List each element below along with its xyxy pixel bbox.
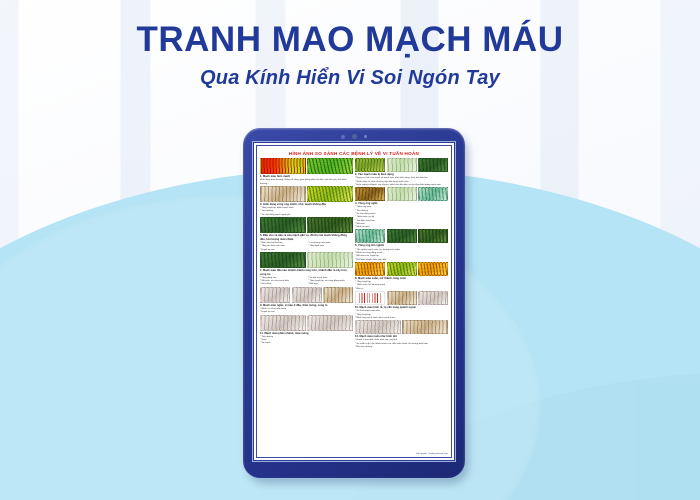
capillary-microscope-image <box>355 229 385 243</box>
poster-section-body: * Thiếu oxy máu* Tiểu đường* Xơ vữa động… <box>355 206 448 229</box>
capillary-microscope-image <box>418 262 448 276</box>
poster-credit: Bản quyền: Tranhmaomach.com <box>260 452 448 455</box>
camera-lens-icon <box>352 134 357 139</box>
poster-section: 7. Mạch máu đầu vào nhánh mảnh cong tròn… <box>260 252 353 287</box>
poster-column-left: 1. Mạch máu hiển mạchHình dạng bình thườ… <box>260 158 353 452</box>
capillary-microscope-image <box>355 187 385 201</box>
poster-section-body: * Xơ hình mạch máu não* Tăng huyết áp* B… <box>355 310 448 320</box>
capillary-microscope-image <box>323 287 353 303</box>
capillary-microscope-image <box>387 291 417 305</box>
poster-section-images <box>355 158 448 172</box>
poster-column-right: 2. Vào mạch máu bị biến dạng* Ngay cơ hì… <box>355 158 448 452</box>
camera-led-icon <box>364 135 367 138</box>
capillary-microscope-image <box>387 187 417 201</box>
poster-section-images <box>355 229 448 243</box>
capillary-microscope-image <box>260 252 306 268</box>
capillary-microscope-image <box>260 315 306 331</box>
capillary-microscope-image <box>355 320 401 334</box>
tablet-camera-row <box>243 133 465 140</box>
capillary-microscope-image <box>355 158 385 172</box>
poster-inner-frame: HÌNH ẢNH SO SÁNH CÁC BỆNH LÝ VỀ VI TUẦN … <box>256 145 452 458</box>
poster-section-body: * Huyết ứ hao dầu, thiếu máu oxy, suy tĩ… <box>355 339 448 349</box>
poster-section: 2. Vào mạch máu bị biến dạng* Ngay cơ hì… <box>355 158 448 187</box>
poster-section-body: * Máu máu bất thường* Tăng tốc thiếu vận… <box>260 242 353 252</box>
poster-section: 4. Vòng ống ngắn* Thiếu oxy máu* Tiểu đư… <box>355 187 448 229</box>
capillary-microscope-image <box>355 262 385 276</box>
capillary-microscope-image <box>260 287 290 303</box>
capillary-microscope-image <box>355 291 385 305</box>
capillary-microscope-image <box>387 158 417 172</box>
poster-section: 1. Mạch máu hiển mạchHình dạng bình thườ… <box>260 158 353 186</box>
poster-section-images <box>260 158 353 174</box>
capillary-microscope-image <box>260 158 306 174</box>
page-title: TRANH MAO MẠCH MÁU <box>0 20 700 59</box>
capillary-microscope-image <box>418 158 448 172</box>
poster-section-images <box>260 315 353 331</box>
poster-title: HÌNH ẢNH SO SÁNH CÁC BỆNH LÝ VỀ VI TUẦN … <box>260 149 448 158</box>
poster-columns: 1. Mạch máu hiển mạchHình dạng bình thườ… <box>260 158 448 452</box>
poster-section-body: * Tăng huyết áp, bệnh mạch vành* Tiểu đư… <box>260 207 353 217</box>
poster-section-images <box>355 320 448 334</box>
capillary-microscope-image <box>387 262 417 276</box>
capillary-microscope-image <box>387 229 417 243</box>
poster-section-images <box>355 291 448 305</box>
capillary-microscope-image <box>307 158 353 174</box>
poster-section-body: * Ngay cơ hình hao mạch và mạch máu nhỏ;… <box>355 177 448 187</box>
camera-sensor-icon <box>341 135 345 139</box>
poster-section-body: * Bệnh cơ cứng tuần hoàn* Huyết áp cao <box>260 308 353 315</box>
poster-section: 8. Mạch máu xoắn, trở thành, túng cuộn* … <box>355 262 448 291</box>
poster-section-heading: 7. Mạch máu đầu vào nhánh mảnh cong tròn… <box>260 268 353 277</box>
page-subtitle: Qua Kính Hiển Vi Soi Ngón Tay <box>0 67 700 90</box>
poster-section-heading: 5. Đầu cho và dấu ra của mạch gần vụ, đồ… <box>260 233 353 242</box>
capillary-microscope-image <box>307 252 353 268</box>
poster-section-images <box>260 252 353 268</box>
poster-section-body: * Tiểu đường* Gout* Xơ mạch <box>260 336 353 346</box>
heading-block: TRANH MAO MẠCH MÁU Qua Kính Hiển Vi Soi … <box>0 20 700 90</box>
capillary-microscope-image <box>307 186 353 202</box>
poster-section: 11. Mạch máu phân nhánh, màu mỏng* Tiểu … <box>260 315 353 346</box>
capillary-microscope-image <box>402 320 448 334</box>
poster-section: 10. Mạch máu hình rễ, tụ cần xung quanh … <box>355 291 448 320</box>
poster-section-images <box>355 187 448 201</box>
capillary-microscope-image <box>307 217 353 233</box>
capillary-microscope-image <box>307 315 353 331</box>
capillary-microscope-image <box>418 229 448 243</box>
tablet-bezel: HÌNH ẢNH SO SÁNH CÁC BỆNH LÝ VỀ VI TUẦN … <box>243 128 465 478</box>
poster-section: 6. Vòng ống lớn nghẽn* Tắc nghẽn mạch má… <box>355 229 448 261</box>
poster-section: 5. Đầu cho và dấu ra của mạch gần vụ, đồ… <box>260 217 353 252</box>
poster-section: 9. Mạch máu ngắn, ứ màu ít đầu, thân mỏn… <box>260 287 353 315</box>
capillary-microscope-image <box>418 187 448 201</box>
capillary-microscope-image <box>260 186 306 202</box>
poster-section-body: * Tăng huyết áp* Thiếu máu cục bộ màn mạ… <box>355 281 448 291</box>
poster-section-images <box>260 186 353 202</box>
poster-section-body: Hình dạng bình thường, không rõ vòng, go… <box>260 179 353 186</box>
poster-section-body: * Tắc nghẽn mạch máu, lưu lượng máu chậm… <box>355 249 448 262</box>
poster-section-images <box>355 262 448 276</box>
poster-section-body: * Tăng đông vón* Mỡ máu, xơ vữa mạch biế… <box>260 277 353 287</box>
tablet-device: HÌNH ẢNH SO SÁNH CÁC BỆNH LÝ VỀ VI TUẦN … <box>243 128 465 478</box>
poster-section: 3. Hình dạng vòng ống mảnh, nhỏ, mạch kh… <box>260 186 353 217</box>
tablet-screen[interactable]: HÌNH ẢNH SO SÁNH CÁC BỆNH LÝ VỀ VI TUẦN … <box>252 141 456 462</box>
poster-section: 12. Mạch máu xoắn như hình lớn* Huyết ứ … <box>355 320 448 349</box>
capillary-microscope-image <box>260 217 306 233</box>
capillary-microscope-image <box>292 287 322 303</box>
capillary-microscope-image <box>418 291 448 305</box>
poster-section-images <box>260 217 353 233</box>
poster-section-images <box>260 287 353 303</box>
poster: HÌNH ẢNH SO SÁNH CÁC BỆNH LÝ VỀ VI TUẦN … <box>253 142 455 461</box>
